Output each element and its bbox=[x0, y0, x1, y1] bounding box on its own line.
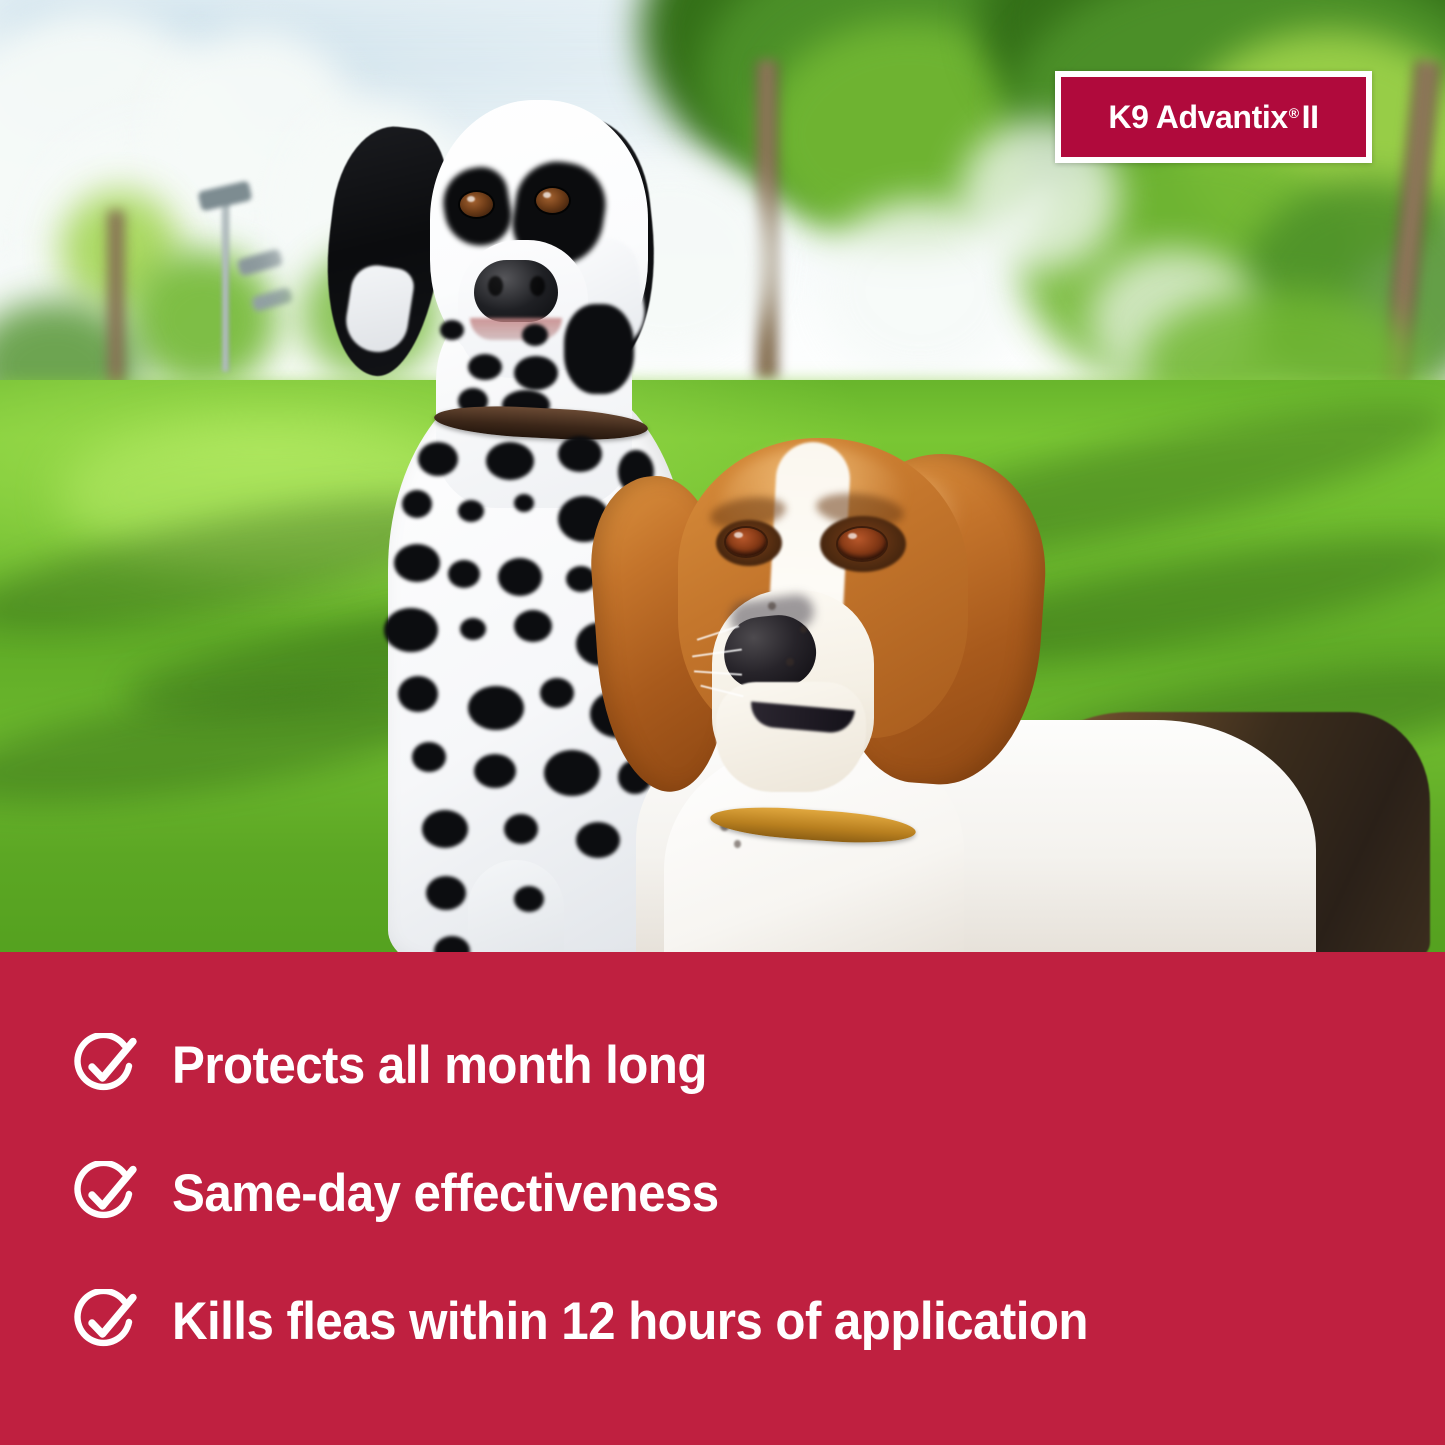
dalmatian-spot bbox=[460, 618, 486, 640]
dalmatian-spot bbox=[412, 742, 446, 772]
dalmatian-spot bbox=[544, 750, 600, 796]
tree-trunk bbox=[108, 210, 124, 390]
benefits-banner: Protects all month long Same-day effecti… bbox=[0, 952, 1445, 1445]
dalmatian-eye-shine bbox=[467, 196, 475, 202]
dalmatian-spot bbox=[514, 494, 534, 512]
dalmatian-spot bbox=[514, 356, 558, 390]
dalmatian-spot bbox=[440, 320, 464, 340]
benefit-item: Protects all month long bbox=[74, 1033, 1415, 1099]
lamp-post bbox=[222, 196, 229, 372]
benefit-label: Kills fleas within 12 hours of applicati… bbox=[172, 1294, 1088, 1350]
brand-name: K9 Advantix bbox=[1108, 101, 1287, 133]
hero-photo: K9 Advantix®II bbox=[0, 0, 1445, 952]
brand-version: II bbox=[1302, 101, 1319, 133]
brand-logo-badge[interactable]: K9 Advantix®II bbox=[1055, 71, 1372, 163]
dalmatian-spot bbox=[422, 810, 468, 848]
dalmatian-spot bbox=[398, 676, 438, 712]
check-circle-icon bbox=[74, 1161, 140, 1227]
basset-eye-right bbox=[838, 528, 886, 560]
benefit-label: Protects all month long bbox=[172, 1038, 707, 1094]
dalmatian-spot bbox=[458, 500, 484, 522]
dalmatian-spot bbox=[504, 814, 538, 844]
dalmatian-spot bbox=[540, 678, 574, 708]
dalmatian-spot bbox=[514, 610, 552, 642]
dalmatian-eye-right bbox=[536, 188, 569, 213]
basset-jowl bbox=[716, 682, 866, 792]
basset-freckle bbox=[768, 602, 776, 610]
basset-eye-shine bbox=[734, 532, 743, 538]
dalmatian-spot bbox=[522, 324, 548, 346]
brand-logo-text: K9 Advantix®II bbox=[1108, 101, 1318, 133]
dalmatian-spot bbox=[558, 436, 602, 472]
dalmatian-eye-left bbox=[460, 192, 493, 217]
brand-logo-inner: K9 Advantix®II bbox=[1061, 77, 1366, 157]
dalmatian-eye-shine bbox=[543, 192, 551, 198]
dalmatian-spot bbox=[486, 442, 534, 480]
dalmatian-spot bbox=[448, 560, 480, 588]
check-circle-icon bbox=[74, 1289, 140, 1355]
dalmatian-spot bbox=[498, 558, 542, 596]
basset-freckle bbox=[800, 626, 807, 633]
dalmatian-spot bbox=[468, 354, 502, 380]
dalmatian-spot bbox=[514, 886, 544, 912]
dalmatian-spot bbox=[418, 442, 458, 476]
basset-freckle bbox=[786, 658, 794, 666]
product-feature-image: K9 Advantix®II Protects all month long S… bbox=[0, 0, 1445, 1445]
check-circle-icon bbox=[74, 1033, 140, 1099]
dalmatian-spot bbox=[564, 304, 634, 394]
dalmatian-spot bbox=[384, 608, 438, 652]
dalmatian-nostril bbox=[530, 276, 545, 296]
basset-eye-shine bbox=[848, 533, 857, 539]
registered-trademark-icon: ® bbox=[1289, 106, 1299, 120]
dalmatian-nostril bbox=[488, 276, 503, 296]
dalmatian-spot bbox=[394, 544, 440, 582]
benefit-label: Same-day effectiveness bbox=[172, 1166, 719, 1222]
benefits-list: Protects all month long Same-day effecti… bbox=[0, 952, 1445, 1445]
dalmatian-spot bbox=[402, 490, 432, 518]
basset-eye-left bbox=[726, 528, 766, 556]
dalmatian-spot bbox=[468, 686, 524, 730]
dalmatian-nose bbox=[474, 260, 558, 322]
basset-freckle bbox=[734, 840, 741, 848]
basset-hound-dog bbox=[600, 420, 1445, 952]
benefit-item: Kills fleas within 12 hours of applicati… bbox=[74, 1289, 1415, 1355]
dalmatian-spot bbox=[474, 754, 516, 788]
dalmatian-lip bbox=[470, 318, 562, 340]
benefit-item: Same-day effectiveness bbox=[74, 1161, 1415, 1227]
dalmatian-spot bbox=[426, 876, 466, 910]
